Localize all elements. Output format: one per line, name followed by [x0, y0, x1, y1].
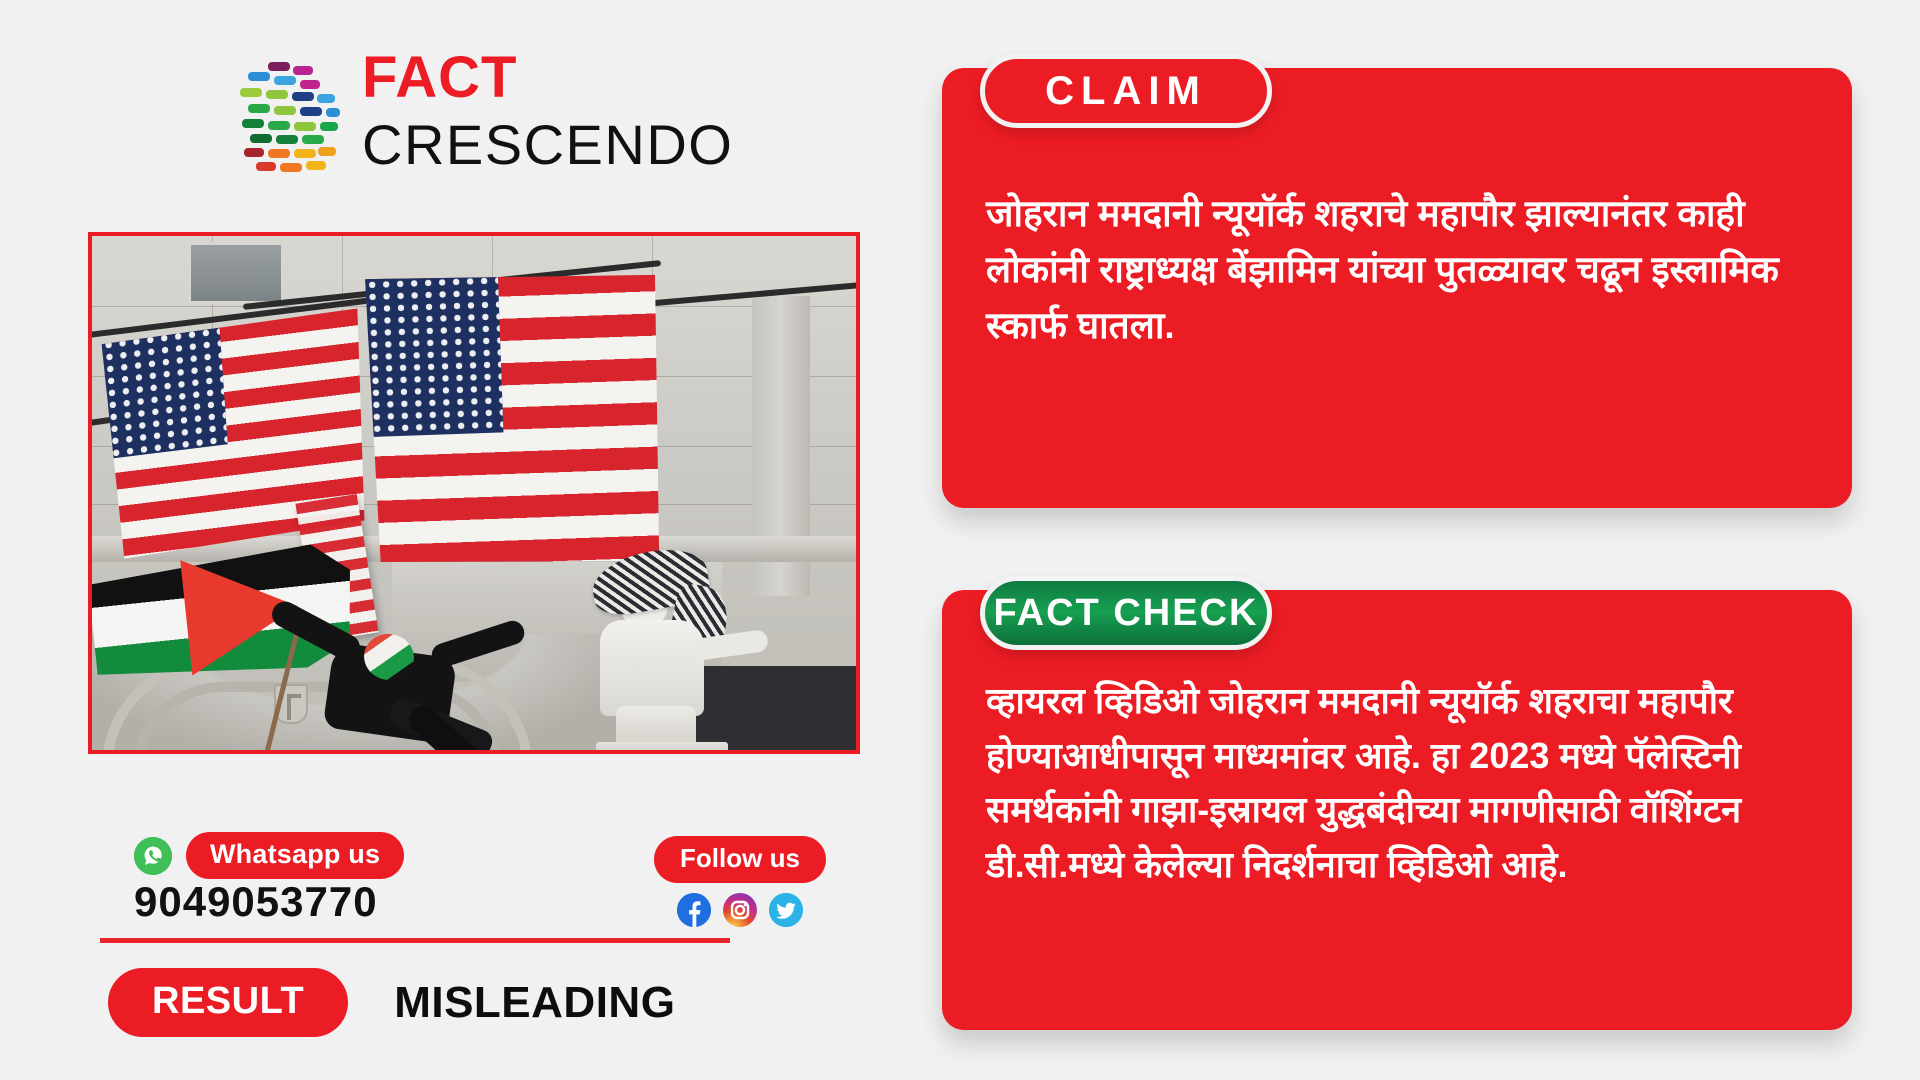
brand-name-crescendo: CRESCENDO: [362, 114, 712, 176]
footer-divider: [100, 938, 730, 943]
globe-bricks-icon: [238, 52, 350, 180]
right-column: जोहरान ममदानी न्यूयॉर्क शहराचे महापौर झा…: [930, 0, 1920, 1080]
brand-logo: FACT CRESCENDO: [238, 48, 708, 183]
statue-pedestal: [596, 742, 728, 750]
fact-check-graphic: FACT CRESCENDO: [0, 0, 1920, 1080]
whatsapp-row[interactable]: Whatsapp us: [134, 832, 404, 879]
social-icons-row: [640, 893, 840, 927]
follow-us-button[interactable]: Follow us: [654, 836, 826, 883]
whatsapp-icon[interactable]: [134, 837, 172, 875]
protester-figure: [260, 604, 560, 750]
photo-content: [92, 236, 856, 750]
whatsapp-number[interactable]: 9049053770: [134, 878, 378, 926]
evidence-photo: FACT CRESCENDO MISLEADING: [88, 232, 860, 754]
statue-body: [600, 620, 704, 716]
protester-arm-right: [429, 618, 528, 670]
claim-text: जोहरान ममदानी न्यूयॉर्क शहराचे महापौर झा…: [986, 186, 1816, 355]
us-flag: [365, 269, 665, 571]
franklin-statue: [562, 556, 782, 750]
instagram-icon[interactable]: [723, 893, 757, 927]
claim-header: CLAIM: [980, 54, 1272, 128]
result-row: RESULT MISLEADING: [108, 968, 675, 1037]
brand-wordmark: FACT CRESCENDO: [362, 48, 712, 180]
factcheck-text: व्हायरल व्हिडिओ जोहरान ममदानी न्यूयॉर्क …: [986, 674, 1816, 893]
factcheck-header: FACT CHECK: [980, 576, 1272, 650]
whatsapp-us-button[interactable]: Whatsapp us: [186, 832, 404, 879]
us-flag-canton: [365, 274, 504, 436]
factcheck-panel: व्हायरल व्हिडिओ जोहरान ममदानी न्यूयॉर्क …: [942, 590, 1852, 1030]
brand-name-fact: FACT: [362, 48, 712, 108]
result-label: RESULT: [108, 968, 348, 1037]
us-flag-canton: [101, 325, 227, 458]
left-column: FACT CRESCENDO: [0, 0, 930, 1080]
building-window: [188, 242, 284, 304]
result-value: MISLEADING: [394, 978, 675, 1028]
follow-block: Follow us: [640, 836, 840, 927]
facebook-icon[interactable]: [677, 893, 711, 927]
twitter-icon[interactable]: [769, 893, 803, 927]
claim-panel: जोहरान ममदानी न्यूयॉर्क शहराचे महापौर झा…: [942, 68, 1852, 508]
